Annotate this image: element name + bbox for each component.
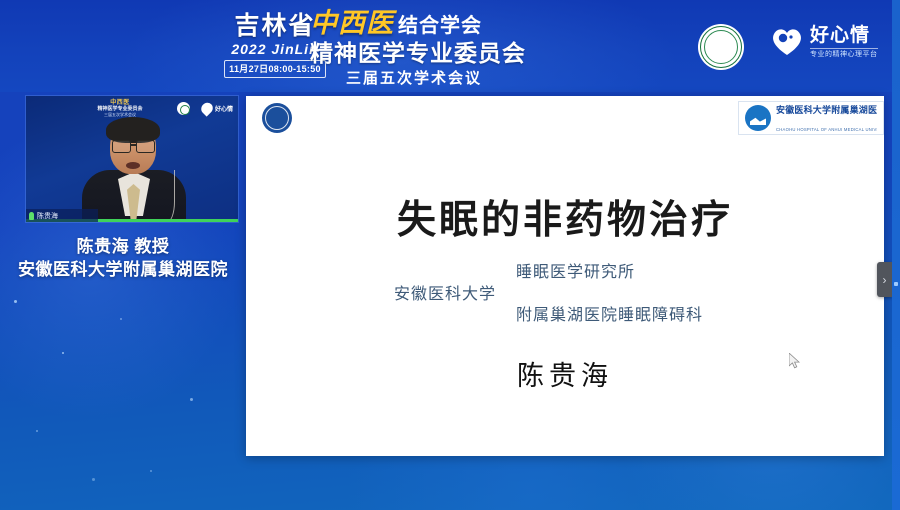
presentation-slide[interactable]: 安徽医科大学附属巢湖医院 CHAOHU HOSPITAL OF ANHUI ME… xyxy=(246,96,884,456)
video-heart-icon xyxy=(199,100,215,116)
speaker-caption: 陈贵海 教授 安徽医科大学附属巢湖医院 xyxy=(0,236,246,282)
green-medical-seal-icon xyxy=(698,24,744,70)
affiliation-university-row: 安徽医科大学 xyxy=(394,286,774,304)
chevron-right-icon: › xyxy=(883,274,887,286)
affiliation-institute: 睡眠医学研究所 xyxy=(516,264,774,282)
slide-title: 失眠的非药物治疗 xyxy=(246,189,884,245)
haoxinqing-logo: 好心情 专业的精神心理平台 xyxy=(770,26,878,58)
participant-name-label: 陈贵海 xyxy=(26,209,98,222)
banner-title-suffix: 结合学会 xyxy=(398,16,482,36)
background-star xyxy=(190,398,193,401)
brand-name: 好心情 xyxy=(810,26,878,45)
slide-affiliation-block: 睡眠医学研究所 安徽医科大学 附属巢湖医院睡眠障碍科 xyxy=(394,264,774,325)
slide-presenter-name: 陈贵海 xyxy=(246,354,884,393)
speaker-mouth xyxy=(126,162,140,169)
video-overlay-banner: 中西医 精神医学专业委员会 三届五次学术会议 xyxy=(70,100,170,118)
video-brand-name: 好心情 xyxy=(215,104,233,113)
banner-title-row2: 精神医学专业委员会 xyxy=(310,42,670,65)
right-scroll-edge[interactable] xyxy=(892,0,900,510)
banner-title-block: 中西医 结合学会 精神医学专业委员会 三届五次学术会议 xyxy=(310,10,670,86)
hospital-logo: 安徽医科大学附属巢湖医院 CHAOHU HOSPITAL OF ANHUI ME… xyxy=(738,101,884,135)
seal-ring xyxy=(700,26,742,68)
banner-title-row1: 中西医 结合学会 xyxy=(310,10,670,37)
banner-title-row3: 三届五次学术会议 xyxy=(346,71,670,86)
panel-expand-toggle[interactable]: › xyxy=(877,262,892,297)
scroll-indicator-dot xyxy=(894,282,898,286)
glasses-lens-left xyxy=(112,140,131,153)
background-star xyxy=(14,300,17,303)
speaker-glasses xyxy=(112,140,155,151)
background-star xyxy=(120,318,122,320)
participant-name-text: 陈贵海 xyxy=(37,211,58,221)
affiliation-department: 附属巢湖医院睡眠障碍科 xyxy=(516,307,774,325)
webinar-viewer: 吉林省 2022 JinLin 11月27日08:00-15:50 中西医 结合… xyxy=(0,0,900,510)
microphone-icon xyxy=(29,212,34,220)
background-star xyxy=(92,478,95,481)
background-star xyxy=(36,430,38,432)
speaker-video-tile[interactable]: 中西医 精神医学专业委员会 三届五次学术会议 好心情 陈贵海 xyxy=(26,96,238,222)
hospital-wave-icon xyxy=(745,105,771,131)
background-star xyxy=(150,470,152,472)
video-green-seal-icon xyxy=(177,102,190,115)
heart-mark-icon xyxy=(770,27,804,57)
brand-tagline: 专业的精神心理平台 xyxy=(810,48,878,58)
background-star xyxy=(62,352,64,354)
hospital-name-en: CHAOHU HOSPITAL OF ANHUI MEDICAL UNIVERS… xyxy=(776,127,877,132)
speaker-headset-cable xyxy=(154,170,175,222)
university-seal-icon xyxy=(262,103,292,133)
hospital-name-cn: 安徽医科大学附属巢湖医院 xyxy=(776,105,877,115)
glasses-lens-right xyxy=(136,140,155,153)
speaker-name: 陈贵海 教授 xyxy=(0,236,246,259)
speaker-affiliation: 安徽医科大学附属巢湖医院 xyxy=(0,259,246,282)
banner-title-gold: 中西医 xyxy=(310,10,394,37)
conference-banner: 吉林省 2022 JinLin 11月27日08:00-15:50 中西医 结合… xyxy=(0,0,900,92)
affiliation-university: 安徽医科大学 xyxy=(394,286,496,304)
hospital-logo-text: 安徽医科大学附属巢湖医院 CHAOHU HOSPITAL OF ANHUI ME… xyxy=(776,100,877,135)
video-brand-logo: 好心情 xyxy=(201,102,235,115)
brand-text: 好心情 专业的精神心理平台 xyxy=(810,26,878,58)
